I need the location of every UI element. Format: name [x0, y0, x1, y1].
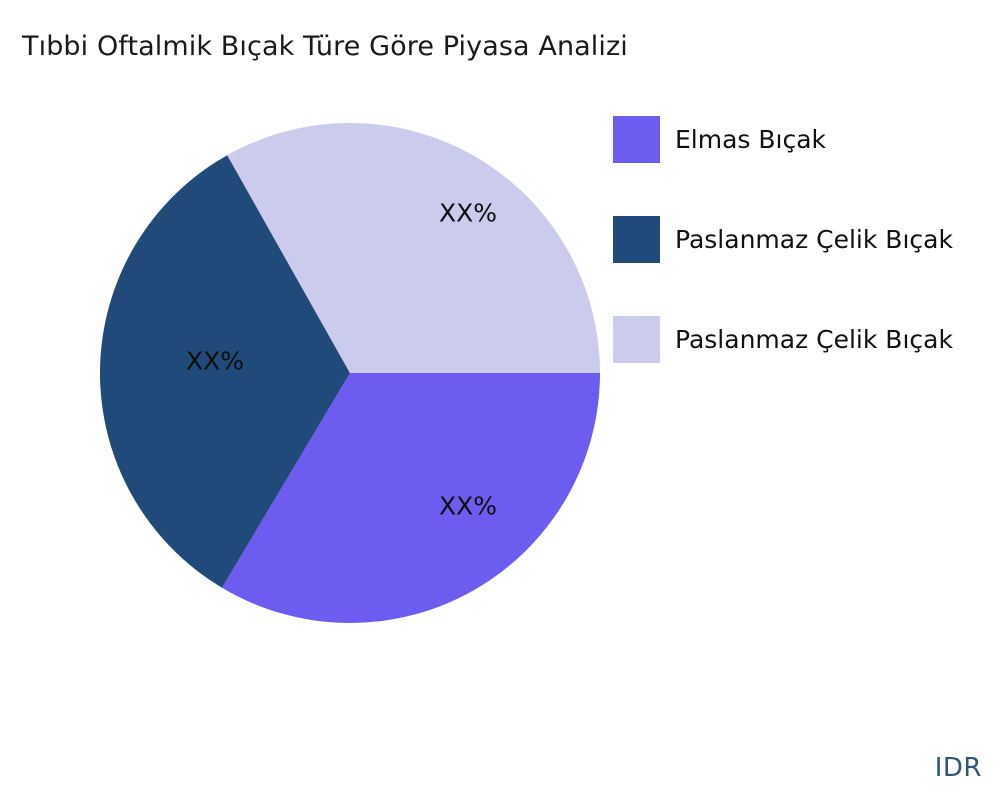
legend-item-label: Elmas Bıçak	[675, 116, 826, 163]
pie-slice-label-darkblue: XX%	[186, 349, 244, 374]
pie-slice-label-purple: XX%	[439, 494, 497, 519]
legend-item-paslanmaz-celik-bicak-1[interactable]: Paslanmaz Çelik Bıçak	[613, 216, 1000, 263]
chart-legend: Elmas Bıçak Paslanmaz Çelik Bıçak Paslan…	[613, 116, 1000, 416]
legend-swatch-icon	[613, 316, 660, 363]
pie-slice-label-lavender: XX%	[439, 201, 497, 226]
legend-item-paslanmaz-celik-bicak-2[interactable]: Paslanmaz Çelik Bıçak	[613, 316, 1000, 363]
watermark-idr: IDR	[935, 754, 982, 782]
legend-item-elmas-bicak[interactable]: Elmas Bıçak	[613, 116, 1000, 163]
legend-swatch-icon	[613, 216, 660, 263]
legend-item-label: Paslanmaz Çelik Bıçak	[675, 316, 953, 363]
pie-slice-group	[100, 123, 600, 623]
legend-item-label: Paslanmaz Çelik Bıçak	[675, 216, 953, 263]
pie-chart-svg	[100, 123, 600, 623]
legend-swatch-icon	[613, 116, 660, 163]
